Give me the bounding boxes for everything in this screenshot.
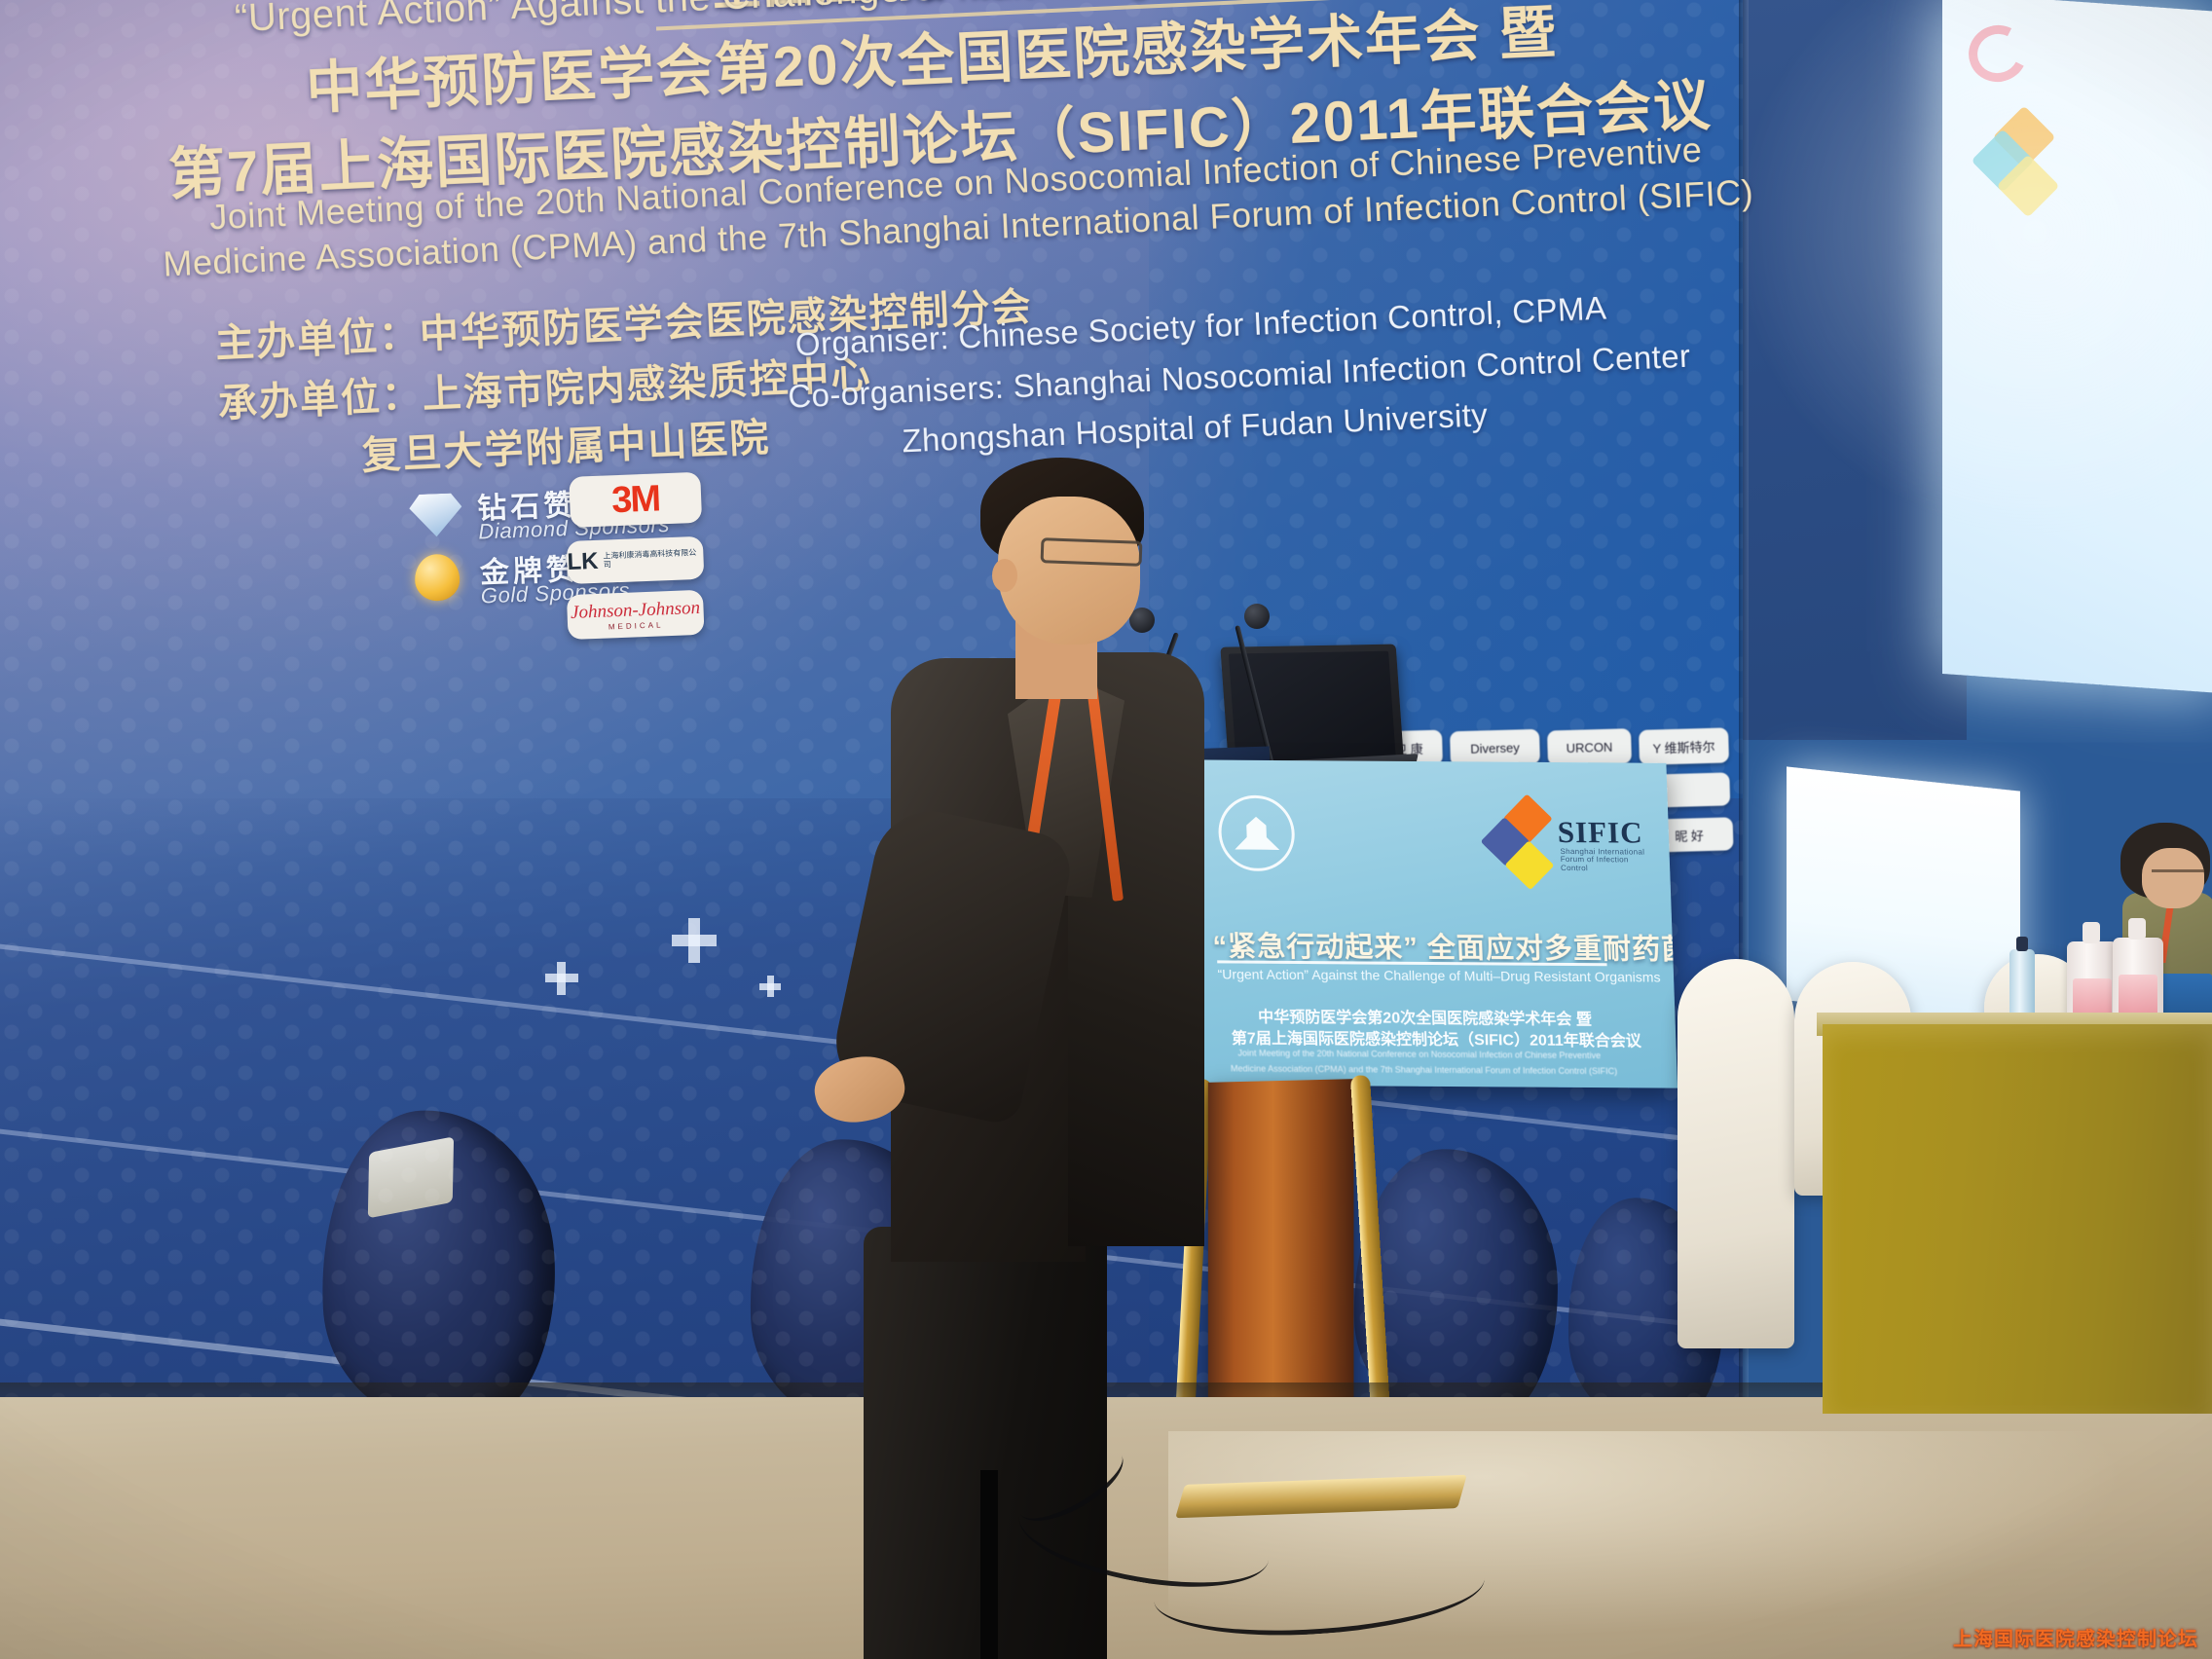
speaker-ear (992, 559, 1017, 592)
projection-screen (1942, 0, 2212, 693)
seated-attendee-glasses-icon (2152, 869, 2204, 878)
speaker-glasses-icon (1041, 537, 1143, 567)
sanitizer-bottle-label (2119, 975, 2157, 1017)
conference-photo: 全面应对多重耐药菌的挑战 “Urgent Action” Against the… (0, 0, 2212, 1659)
speaker-person (891, 458, 1319, 1577)
head-table-cloth (1823, 1024, 2212, 1414)
sponsor-grid-chip: URCON (1547, 728, 1632, 765)
speaker-face (998, 497, 1140, 645)
chair (1677, 959, 1794, 1348)
seated-attendee-face (2142, 848, 2204, 908)
sponsor-grid-chip: Y 维斯特尔 (1639, 727, 1729, 765)
sific-wordmark: SIFIC (1557, 815, 1643, 851)
sific-logo: SIFIC Shanghai International Forum of In… (1473, 800, 1643, 879)
runner-silhouette (313, 1104, 564, 1421)
watermark: 上海国际医院感染控制论坛 (1953, 1623, 2198, 1651)
runner-bib (368, 1136, 454, 1218)
cross-decoration-icon (759, 983, 781, 990)
cross-decoration-icon (672, 935, 717, 946)
wall-strip-right (1743, 0, 1967, 740)
conference-backdrop (0, 0, 1743, 1421)
sific-subtext: Shanghai International Forum of Infectio… (1560, 848, 1648, 873)
speaker-leg-split (980, 1470, 998, 1659)
cross-decoration-icon (545, 974, 578, 982)
